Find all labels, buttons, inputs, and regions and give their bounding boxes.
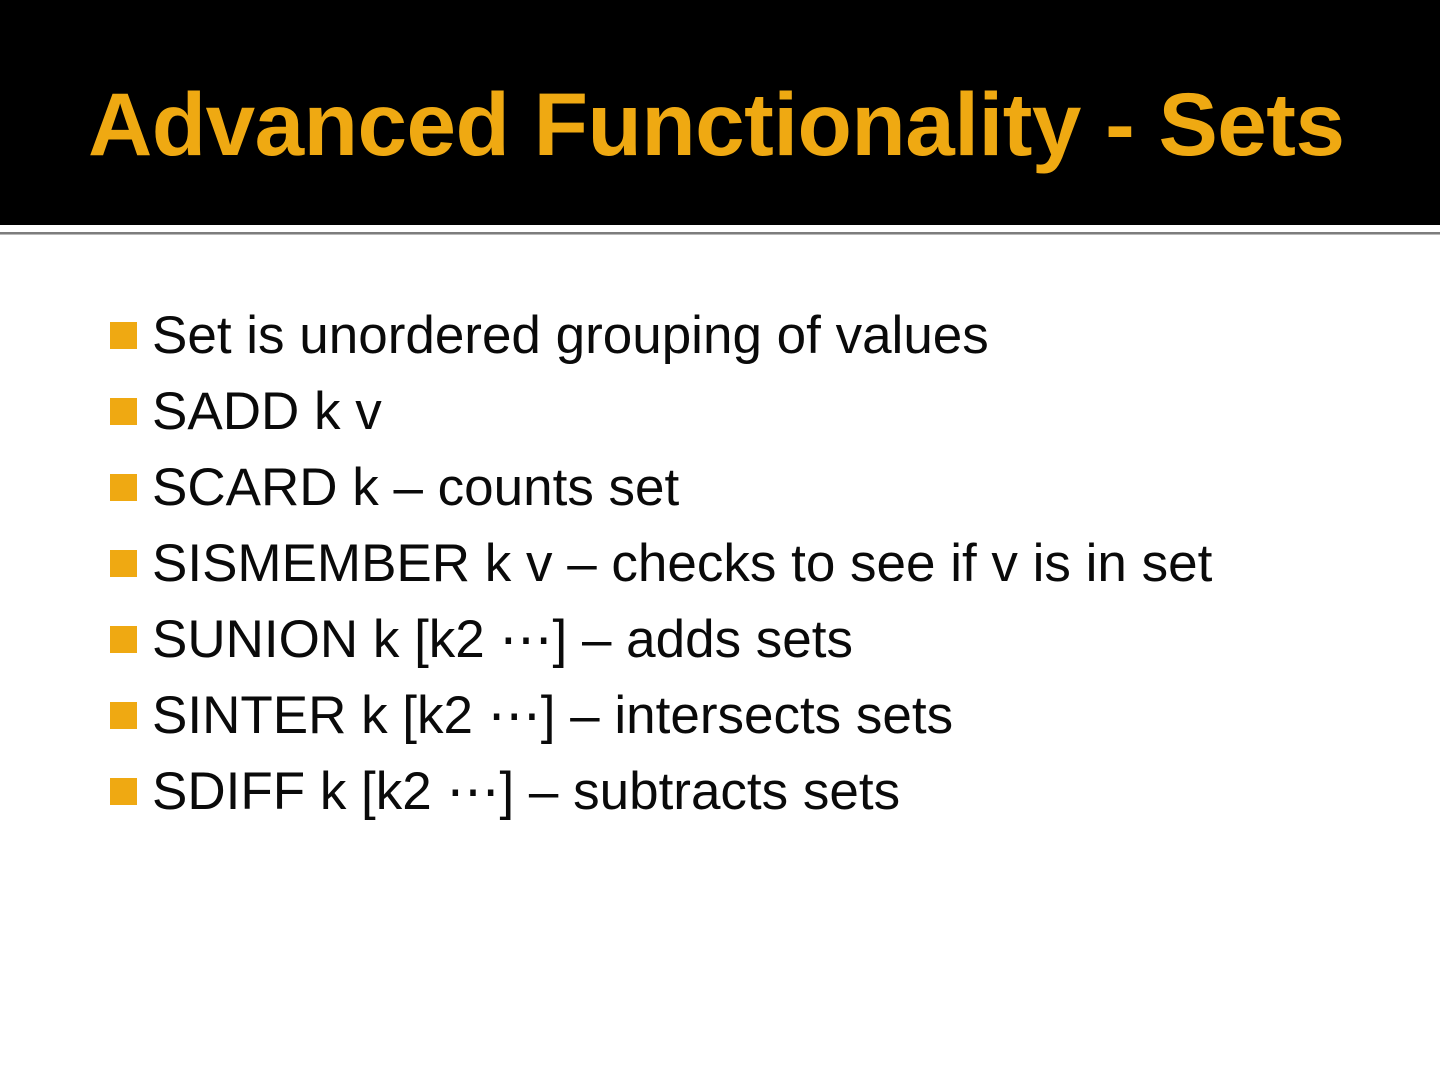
list-item: SUNION k [k2 ⋯] – adds sets	[110, 608, 1350, 672]
presentation-slide: Advanced Functionality - Sets Set is uno…	[0, 0, 1440, 1080]
square-bullet-icon	[110, 550, 137, 577]
list-item: SINTER k [k2 ⋯] – intersects sets	[110, 684, 1350, 748]
square-bullet-icon	[110, 398, 137, 425]
square-bullet-icon	[110, 322, 137, 349]
title-divider-gap	[0, 225, 1440, 232]
list-item: SADD k v	[110, 380, 1350, 444]
slide-title: Advanced Functionality - Sets	[88, 76, 1378, 172]
bullet-text: SUNION k [k2 ⋯] – adds sets	[152, 608, 1350, 672]
title-divider-line-soft	[0, 234, 1440, 235]
title-band: Advanced Functionality - Sets	[0, 0, 1440, 225]
list-item: SCARD k – counts set	[110, 456, 1350, 520]
list-item: Set is unordered grouping of values	[110, 304, 1350, 368]
slide-body: Set is unordered grouping of values SADD…	[0, 236, 1440, 1080]
bullet-text: SINTER k [k2 ⋯] – intersects sets	[152, 684, 1350, 748]
list-item: SISMEMBER k v – checks to see if v is in…	[110, 532, 1350, 596]
bullet-text: SADD k v	[152, 380, 1350, 444]
square-bullet-icon	[110, 702, 137, 729]
bullet-text: Set is unordered grouping of values	[152, 304, 1350, 368]
list-item: SDIFF k [k2 ⋯] – subtracts sets	[110, 760, 1350, 824]
bullet-list: Set is unordered grouping of values SADD…	[110, 304, 1350, 824]
square-bullet-icon	[110, 778, 137, 805]
square-bullet-icon	[110, 626, 137, 653]
square-bullet-icon	[110, 474, 137, 501]
bullet-text: SDIFF k [k2 ⋯] – subtracts sets	[152, 760, 1350, 824]
bullet-text: SCARD k – counts set	[152, 456, 1350, 520]
bullet-text: SISMEMBER k v – checks to see if v is in…	[152, 532, 1350, 596]
